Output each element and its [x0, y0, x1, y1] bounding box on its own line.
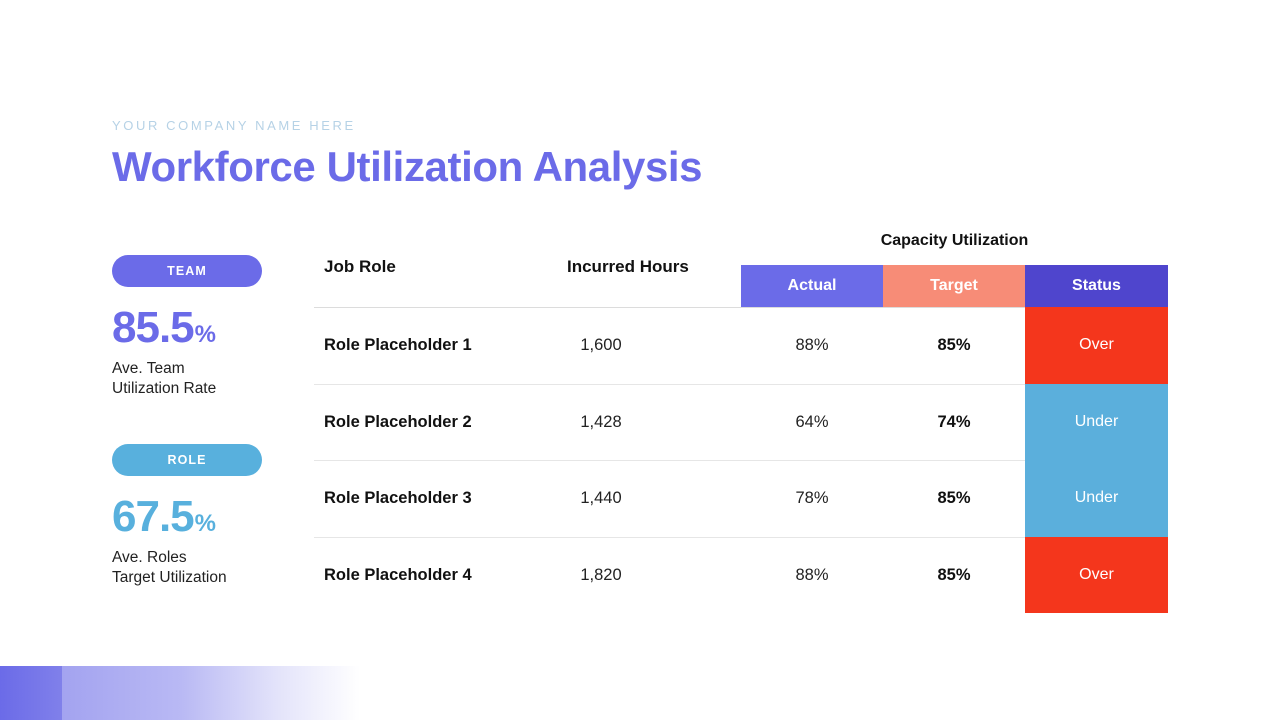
column-header-incurred-hours: Incurred Hours [567, 257, 689, 277]
cell-target: 85% [883, 538, 1025, 614]
table-header: Capacity Utilization Job Role Incurred H… [314, 232, 1168, 307]
cell-actual: 88% [741, 538, 883, 614]
status-badge: Over [1025, 537, 1168, 614]
status-badge: Under [1025, 384, 1168, 461]
cell-target: 74% [883, 385, 1025, 461]
status-badge: Over [1025, 307, 1168, 384]
table-row: Role Placeholder 31,44078%85%Under [314, 460, 1168, 537]
stats-rail: TEAM 85.5 % Ave. Team Utilization Rate R… [112, 255, 302, 609]
table-row: Role Placeholder 21,42864%74%Under [314, 384, 1168, 461]
stat-value-role: 67.5 % [112, 495, 302, 539]
cell-incurred-hours: 1,820 [496, 538, 706, 614]
bottom-accent-bar-gradient [62, 666, 360, 720]
bottom-accent-bar [0, 666, 360, 720]
stat-pill-team[interactable]: TEAM [112, 255, 262, 287]
stat-caption-role-line1: Ave. Roles [112, 548, 302, 568]
column-header-status: Status [1025, 265, 1168, 307]
stat-number-team: 85.5 [112, 306, 194, 350]
stat-number-role: 67.5 [112, 495, 194, 539]
cell-target: 85% [883, 308, 1025, 384]
cell-actual: 64% [741, 385, 883, 461]
stat-value-team: 85.5 % [112, 306, 302, 350]
slide-header: YOUR COMPANY NAME HERE Workforce Utiliza… [112, 118, 702, 189]
stat-pill-role[interactable]: ROLE [112, 444, 262, 476]
cell-actual: 88% [741, 308, 883, 384]
cell-actual: 78% [741, 461, 883, 537]
stat-caption-role: Ave. Roles Target Utilization [112, 548, 302, 589]
table-row: Role Placeholder 11,60088%85%Over [314, 307, 1168, 384]
bottom-accent-bar-solid [0, 666, 62, 720]
cell-target: 85% [883, 461, 1025, 537]
table-row: Role Placeholder 41,82088%85%Over [314, 537, 1168, 614]
status-badge: Under [1025, 460, 1168, 537]
stat-unit-role: % [195, 512, 216, 536]
cell-incurred-hours: 1,440 [496, 461, 706, 537]
company-name-eyebrow: YOUR COMPANY NAME HERE [112, 118, 702, 133]
column-header-job-role: Job Role [324, 257, 396, 277]
stat-block-team: TEAM 85.5 % Ave. Team Utilization Rate [112, 255, 302, 400]
column-header-group-cells: Actual Target Status [741, 265, 1168, 307]
cell-incurred-hours: 1,600 [496, 308, 706, 384]
stat-caption-team: Ave. Team Utilization Rate [112, 359, 302, 400]
cell-job-role: Role Placeholder 1 [324, 308, 472, 384]
cell-incurred-hours: 1,428 [496, 385, 706, 461]
column-header-target: Target [883, 265, 1025, 307]
column-header-actual: Actual [741, 265, 883, 307]
stat-block-role: ROLE 67.5 % Ave. Roles Target Utilizatio… [112, 444, 302, 589]
utilization-table: Capacity Utilization Job Role Incurred H… [314, 232, 1168, 613]
cell-job-role: Role Placeholder 2 [324, 385, 472, 461]
stat-unit-team: % [195, 323, 216, 347]
table-body: Role Placeholder 11,60088%85%OverRole Pl… [314, 307, 1168, 613]
page-title: Workforce Utilization Analysis [112, 145, 702, 189]
stat-caption-team-line1: Ave. Team [112, 359, 302, 379]
stat-caption-team-line2: Utilization Rate [112, 379, 302, 399]
cell-job-role: Role Placeholder 4 [324, 538, 472, 614]
column-group-capacity-utilization: Capacity Utilization [741, 232, 1168, 250]
stat-caption-role-line2: Target Utilization [112, 568, 302, 588]
cell-job-role: Role Placeholder 3 [324, 461, 472, 537]
